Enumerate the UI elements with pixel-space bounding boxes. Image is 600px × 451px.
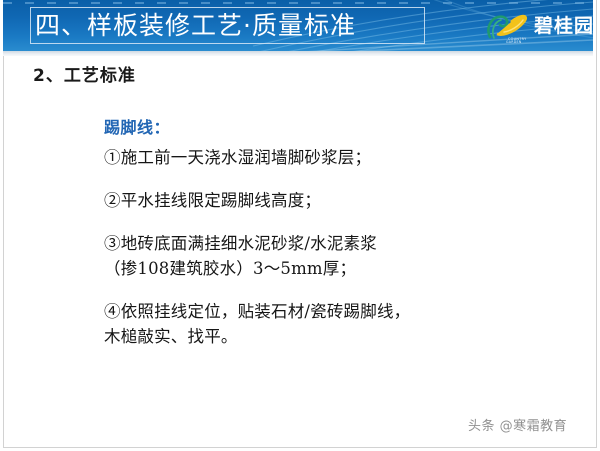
list-item: ②平水挂线限定踢脚线高度； bbox=[104, 188, 574, 213]
slide-canvas: 四、样板装修工艺·质量标准 COUNTRY GARDEN 碧桂园 2、工艺标准 … bbox=[0, 0, 600, 451]
content-block: 踢脚线： ①施工前一天浇水湿润墙脚砂浆层； ②平水挂线限定踢脚线高度； ③地砖底… bbox=[104, 117, 574, 349]
list-item-line-1: ②平水挂线限定踢脚线高度； bbox=[104, 188, 574, 213]
list-item: ③地砖底面满挂细水泥砂浆/水泥素浆 （掺108建筑胶水）3～5mm厚； bbox=[104, 231, 574, 281]
slide-header-bar: 四、样板装修工艺·质量标准 COUNTRY GARDEN 碧桂园 bbox=[3, 0, 593, 51]
list-item-line-1: ①施工前一天浇水湿润墙脚砂浆层； bbox=[104, 145, 574, 170]
page-title: 四、样板装修工艺·质量标准 bbox=[35, 8, 356, 43]
header-dashed-accent-line bbox=[3, 2, 593, 4]
header-bottom-divider bbox=[3, 51, 593, 56]
section-heading: 2、工艺标准 bbox=[33, 64, 136, 88]
list-item: ④依照挂线定位，贴装石材/瓷砖踢脚线， 木槌敲实、找平。 bbox=[104, 299, 574, 349]
brand-logo-text: 碧桂园 bbox=[534, 12, 593, 40]
list-item-line-1: ③地砖底面满挂细水泥砂浆/水泥素浆 bbox=[104, 231, 574, 256]
brand-logo: COUNTRY GARDEN 碧桂园 bbox=[484, 10, 592, 44]
sub-heading: 踢脚线： bbox=[104, 117, 574, 139]
list-item-line-2: 木槌敲实、找平。 bbox=[104, 324, 574, 349]
watermark-text: 头条 @寒霜教育 bbox=[468, 418, 567, 436]
list-item-line-1: ④依照挂线定位，贴装石材/瓷砖踢脚线， bbox=[104, 299, 574, 324]
list-item-line-2: （掺108建筑胶水）3～5mm厚； bbox=[104, 256, 574, 281]
svg-text:GARDEN: GARDEN bbox=[506, 40, 522, 43]
list-item: ①施工前一天浇水湿润墙脚砂浆层； bbox=[104, 145, 574, 170]
country-garden-swoosh-logo-icon: COUNTRY GARDEN bbox=[484, 11, 530, 43]
